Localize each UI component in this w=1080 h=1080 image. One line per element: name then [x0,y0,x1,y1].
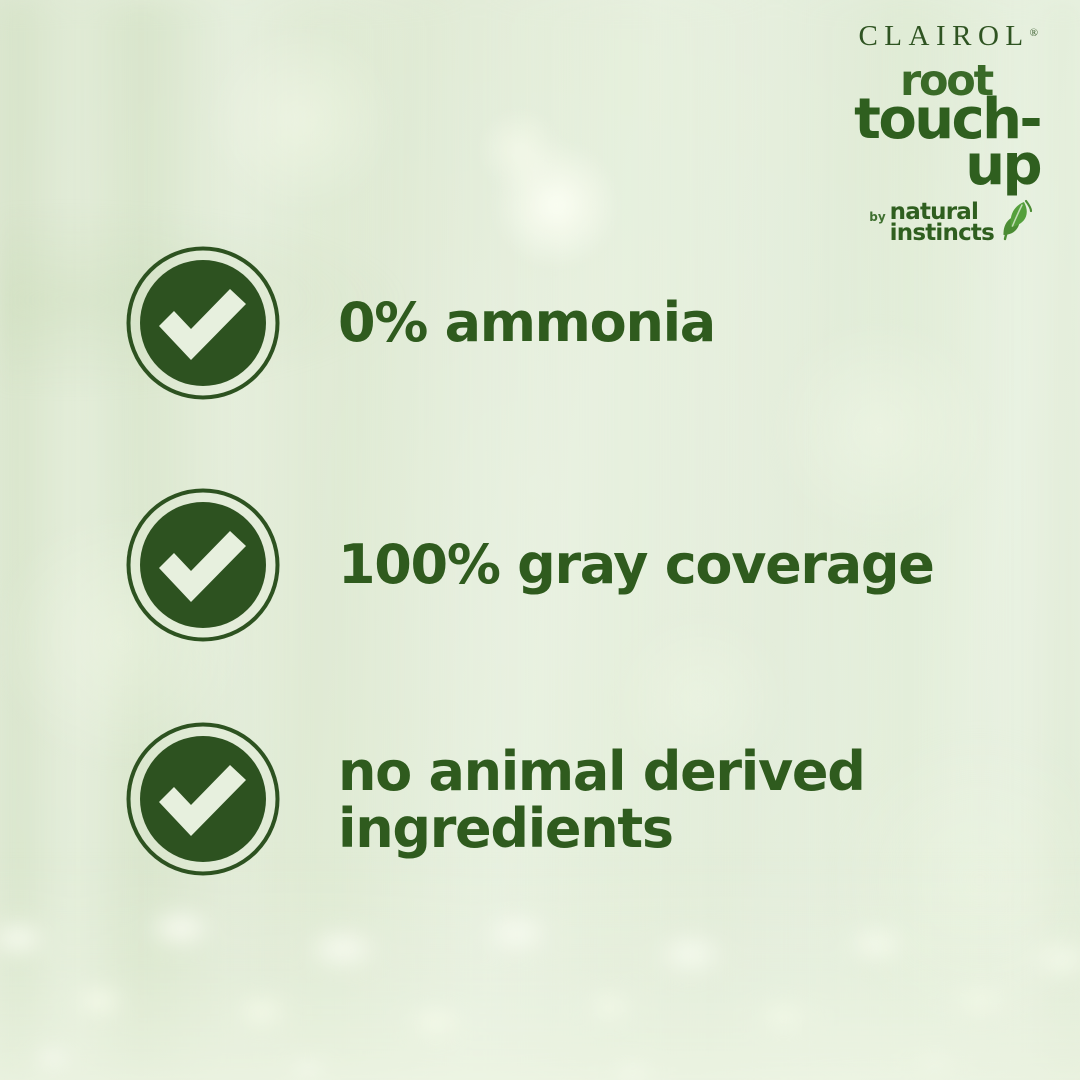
sub-brand-name: natural instincts [890,202,994,244]
claim-item-ammonia: 0% ammonia [126,246,715,400]
product-line-touch-up: touch-up [790,97,1040,189]
registered-trademark-icon: ® [1030,27,1038,39]
brand-wordmark-clairol-text: CLAIROL [858,20,1029,52]
claim-label: no animal derived ingredients [338,743,865,857]
claim-label: 100% gray coverage [338,536,934,593]
sub-brand-lockup: by natural instincts [790,199,1040,244]
sub-brand-line-instincts: instincts [890,223,994,244]
claim-item-gray-coverage: 100% gray coverage [126,488,934,642]
brand-logo-lockup: CLAIROL® root touch-up by natural instin… [790,22,1040,244]
check-circle-icon [126,246,280,400]
check-circle-icon [126,488,280,642]
leaf-icon [998,199,1038,243]
brand-wordmark-clairol: CLAIROL® [790,22,1040,51]
claim-item-animal-derived: no animal derived ingredients [126,722,865,876]
product-claims-banner: CLAIROL® root touch-up by natural instin… [0,0,1080,1080]
sub-brand-by-label: by [869,210,885,244]
claim-label: 0% ammonia [338,294,715,351]
check-circle-icon [126,722,280,876]
